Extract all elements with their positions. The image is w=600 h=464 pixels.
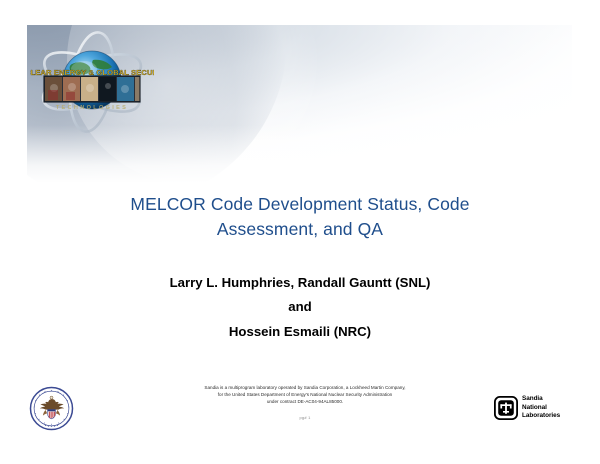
page-marker: pg# 1	[150, 415, 460, 420]
sandia-wordmark: Sandia National Laboratories	[522, 395, 560, 420]
author-block: Larry L. Humphries, Randall Gauntt (SNL)…	[60, 271, 540, 344]
sandia-wordmark-line-3: Laboratories	[522, 412, 560, 420]
sandia-thunderbird-icon	[494, 396, 518, 420]
author-line-3: Hossein Esmaili (NRC)	[60, 320, 540, 344]
sandia-wordmark-line-1: Sandia	[522, 395, 560, 403]
svg-text:TECHNOLOGIES: TECHNOLOGIES	[56, 105, 128, 111]
slide-title-line-2: Assessment, and QA	[60, 217, 540, 242]
title-slide: NUCLEAR ENERGY & GLOBAL SECURITY TECHNOL…	[0, 0, 600, 464]
svg-text:NUCLEAR ENERGY & GLOBAL SECURI: NUCLEAR ENERGY & GLOBAL SECURITY	[30, 68, 154, 77]
sandia-national-laboratories-logo: Sandia National Laboratories	[494, 393, 560, 423]
slide-title: MELCOR Code Development Status, Code Ass…	[60, 192, 540, 243]
author-line-2: and	[60, 295, 540, 319]
slide-title-line-1: MELCOR Code Development Status, Code	[60, 192, 540, 217]
disclaimer-line-3: under contract DE-AC04-94AL85000.	[150, 399, 460, 406]
sandia-disclaimer: Sandia is a multiprogram laboratory oper…	[150, 385, 460, 406]
nuclear-energy-global-security-emblem: NUCLEAR ENERGY & GLOBAL SECURITY TECHNOL…	[30, 30, 154, 136]
nnsa-eagle-seal	[29, 386, 74, 431]
sandia-wordmark-line-2: National	[522, 404, 560, 412]
author-line-1: Larry L. Humphries, Randall Gauntt (SNL)	[60, 271, 540, 295]
disclaimer-line-1: Sandia is a multiprogram laboratory oper…	[150, 385, 460, 392]
disclaimer-line-2: for the United States Department of Ener…	[150, 392, 460, 399]
